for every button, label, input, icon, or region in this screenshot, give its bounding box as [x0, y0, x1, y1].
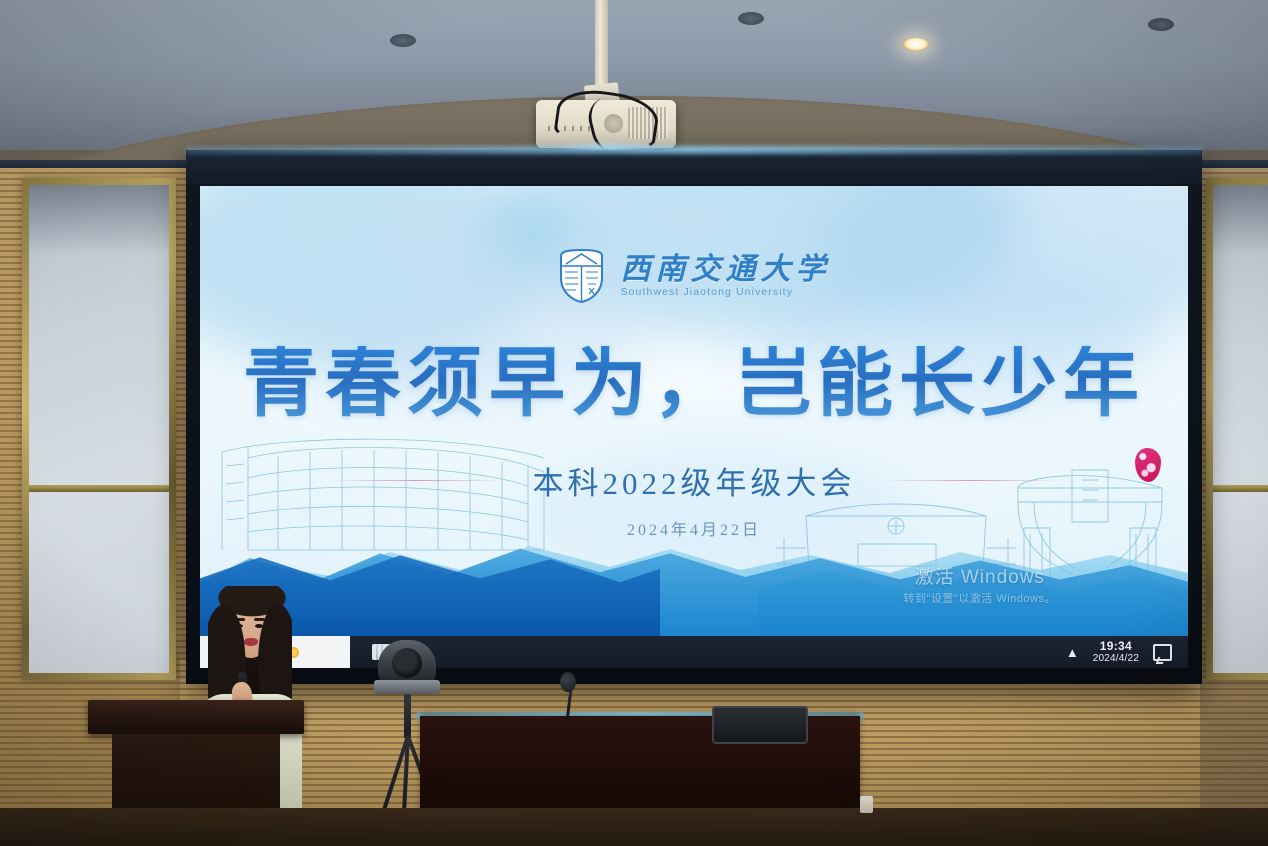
- panel-mullion: [1213, 485, 1268, 492]
- conference-chair: [712, 706, 808, 744]
- clock-date: 2024/4/22: [1093, 653, 1139, 664]
- ceiling-downlight: [903, 38, 929, 51]
- projected-slide: 西南交通大学 Southwest Jiaotong University 青春须…: [200, 186, 1188, 636]
- ceiling-downlight: [1148, 18, 1174, 31]
- watermark-line-1: 激活 Windows: [904, 562, 1057, 589]
- slide-headline: 青春须早为，岂能长少年: [200, 346, 1188, 422]
- frosted-glass-panel: [22, 178, 176, 680]
- watermark-line-2: 转到"设置"以激活 Windows。: [904, 590, 1057, 606]
- camera-base: [374, 680, 440, 694]
- slide-subtitle-row: 本科2022级年级大会: [200, 458, 1188, 503]
- taskbar-clock[interactable]: 19:34 2024/4/22: [1093, 640, 1139, 665]
- floor: [0, 808, 1268, 846]
- ceiling-downlight: [738, 12, 764, 25]
- chevron-up-icon[interactable]: ▲: [1066, 646, 1079, 659]
- ceiling-downlight: [390, 34, 416, 47]
- windows-taskbar[interactable]: ▲ 19:34 2024/4/22: [200, 636, 1188, 668]
- valance-light-strip: [186, 146, 1202, 154]
- clock-time: 19:34: [1093, 640, 1139, 653]
- panel-mullion: [29, 485, 169, 492]
- logo-english-name: Southwest Jiaotong University: [621, 286, 794, 298]
- notification-icon[interactable]: [1153, 644, 1172, 661]
- camera-lens: [392, 648, 422, 678]
- lecture-hall-photo: 西南交通大学 Southwest Jiaotong University 青春须…: [0, 0, 1268, 846]
- logo-chinese-name: 西南交通大学: [621, 255, 831, 285]
- frosted-glass-panel: [1206, 178, 1268, 680]
- windows-activation-watermark: 激活 Windows 转到"设置"以激活 Windows。: [904, 562, 1057, 606]
- projector-mount-pole: [595, 0, 608, 92]
- swjtu-crest-icon: [558, 248, 605, 304]
- wall-socket: [860, 796, 873, 813]
- subtitle-rule-right: [882, 480, 1062, 481]
- slide-subtitle: 本科2022级年级大会: [533, 458, 856, 503]
- screen-valance: [186, 150, 1202, 184]
- subtitle-rule-left: [327, 480, 507, 481]
- tripod-column: [404, 694, 411, 738]
- gooseneck-microphone: [560, 672, 576, 692]
- slide-date: 2024年4月22日: [200, 516, 1188, 540]
- university-logo: 西南交通大学 Southwest Jiaotong University: [200, 248, 1188, 304]
